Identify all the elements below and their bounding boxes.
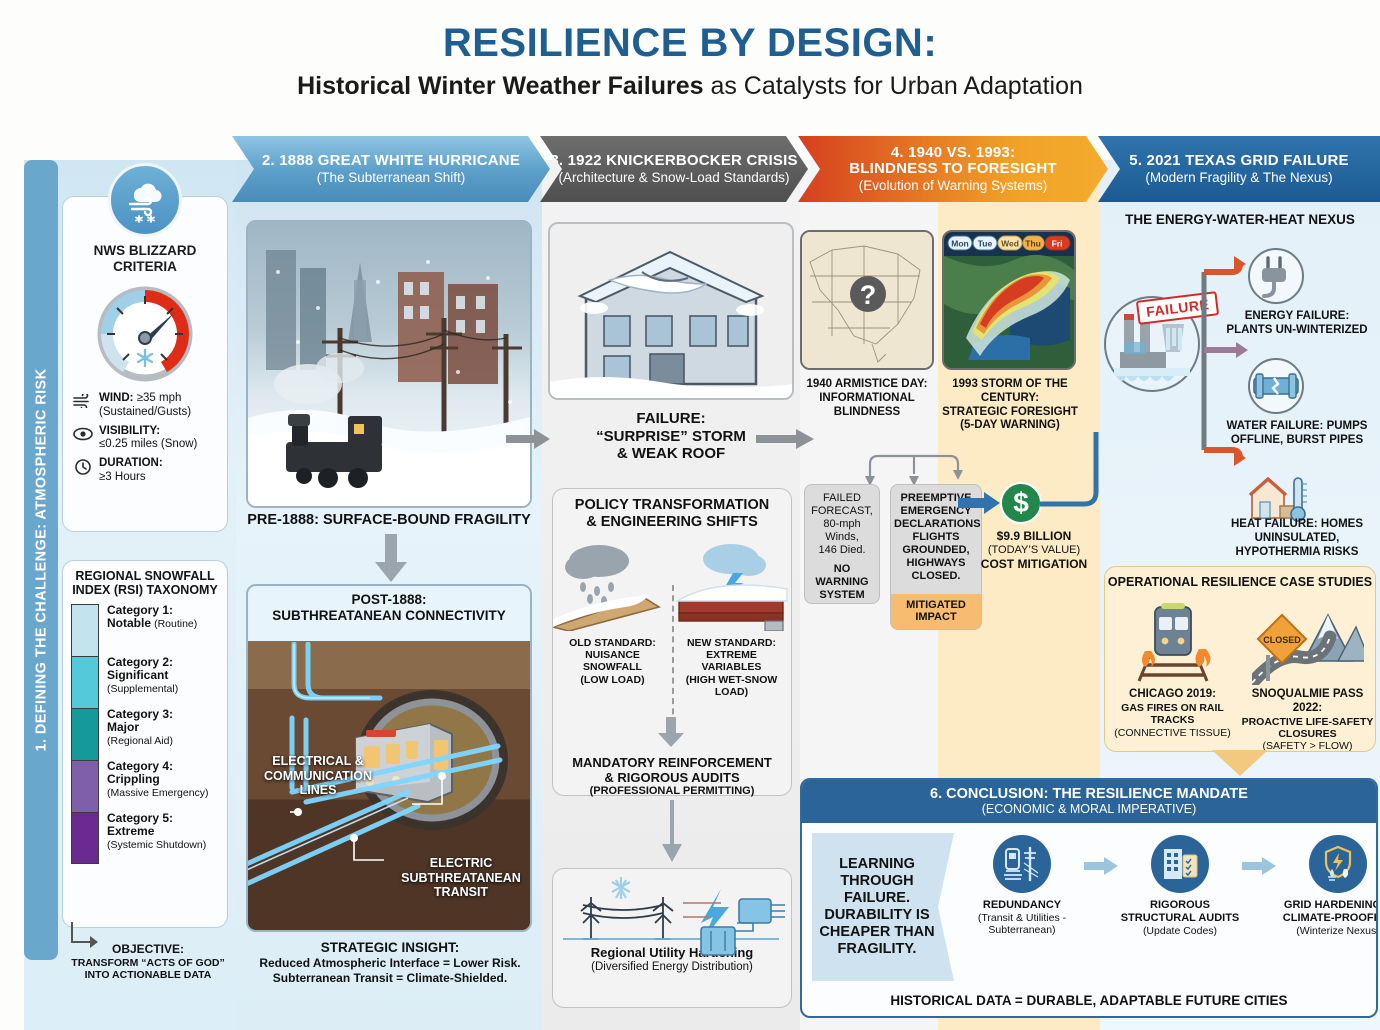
1888-street-snow-train-illustration [246, 220, 532, 508]
failed-forecast-text: FAILED FORECAST, 80-mph Winds, 146 Died.… [805, 485, 879, 602]
old-vs-new-roof-diagram [553, 539, 789, 631]
pillar-audits: RIGOROUS STRUCTURAL AUDITS (Update Codes… [1118, 835, 1242, 937]
criteria-row-duration: DURATION:≥3 Hours [73, 457, 219, 485]
col3-policy-head: POLICY TRANSFORMATION & ENGINEERING SHIF… [553, 489, 791, 531]
conclusion-head-subtitle: (ECONOMIC & MORAL IMPERATIVE) [802, 802, 1376, 816]
pillar-arrow-2-icon [1242, 857, 1276, 875]
failed-forecast-bold: NO WARNING SYSTEM [808, 563, 876, 602]
rsi-cat4-paren: (Massive Emergency) [107, 787, 209, 799]
criteria-visibility-detail: ≤0.25 miles (Snow) [99, 438, 197, 450]
chevron-3-title-line1: 4. 1940 VS. 1993: [891, 145, 1015, 162]
rsi-cat3-label: Major [107, 720, 139, 734]
rsi-label-column: Category 1:Notable (Routine) Category 2:… [99, 604, 219, 864]
banner-chevron-2021-texas[interactable]: 5. 2021 TEXAS GRID FAILURE (Modern Fragi… [1098, 136, 1380, 202]
chevron-3-title-line2: BLINDNESS TO FORESIGHT [849, 161, 1056, 178]
svg-text:Mon: Mon [951, 239, 968, 249]
clock-icon [73, 457, 93, 480]
svg-text:?: ? [860, 280, 877, 310]
rsi-label-cat1: Category 1:Notable (Routine) [107, 604, 219, 656]
case-studies-row: CHICAGO 2019: GAS FIRES ON RAIL TRACKS (… [1105, 599, 1375, 753]
rsi-cat2-label: Significant [107, 668, 168, 682]
conclusion-header: 6. CONCLUSION: THE RESILIENCE MANDATE (E… [802, 780, 1376, 823]
cost-inflow-arrow-icon [958, 492, 1002, 514]
col2-down-arrow-icon [374, 534, 408, 582]
rsi-panel-title: REGIONAL SNOWFALL INDEX (RSI) TAXONOMY [69, 569, 221, 598]
pillar-audits-sub: (Update Codes) [1118, 925, 1242, 937]
rsi-label-cat4: Category 4:Crippling(Massive Emergency) [107, 760, 219, 812]
case-snoqualmie-paren: (SAFETY > FLOW) [1263, 740, 1353, 752]
banner-chevron-1888[interactable]: 2. 1888 GREAT WHITE HURRICANE (The Subte… [232, 136, 550, 202]
pillar-redundancy-text: REDUNDANCY (Transit & Utilities - Subter… [960, 899, 1084, 937]
risk-gauge-icon [93, 282, 197, 386]
blizzard-cloud-wind-snow-icon [108, 163, 182, 237]
chevron-2-subtitle: (Architecture & Snow-Load Standards) [558, 170, 789, 185]
post-1888-subterranean-illustration: POST-1888: SUBTHREATANEAN CONNECTIVITY [246, 584, 532, 932]
rsi-cat1-name: Category 1: [107, 603, 173, 617]
failed-forecast-detail: FAILED FORECAST, 80-mph Winds, 146 Died. [811, 492, 873, 556]
chevron-1-subtitle: (The Subterranean Shift) [317, 170, 466, 185]
objective-body: TRANSFORM “ACTS OF GOD” INTO ACTIONABLE … [71, 957, 224, 982]
col2-to-col3-arrow-icon [506, 428, 552, 450]
criteria-duration-detail: ≥3 Hours [99, 471, 146, 483]
conclusion-body: LEARNING THROUGH FAILURE. DURABILITY IS … [802, 823, 1376, 981]
pillar-grid-sub: (Winterize Nexus) [1276, 925, 1378, 937]
col4-branch-arrows-icon [856, 440, 972, 488]
criteria-visibility-text: VISIBILITY:≤0.25 miles (Snow) [99, 425, 197, 453]
pillar-redundancy-head: REDUNDANCY [983, 899, 1061, 911]
1993-satellite-storm-forecast-map: Mon Tue Wed Thu Fri [942, 230, 1076, 370]
rsi-label-cat5: Category 5:Extreme(Systemic Shutdown) [107, 812, 219, 864]
eye-icon [73, 425, 93, 446]
case-chicago-head: CHICAGO 2019: [1129, 688, 1216, 700]
subtitle-light: as Catalysts for Urban Adaptation [704, 72, 1083, 100]
policy-down-arrow-icon [657, 717, 685, 747]
conclusion-footer: HISTORICAL DATA = DURABLE, ADAPTABLE FUT… [802, 993, 1376, 1008]
dollar-circle-icon: $ [1000, 482, 1042, 524]
rsi-cat1-paren: (Routine) [154, 618, 197, 630]
chevron-2-title: 3. 1922 KNICKERBOCKER CRISIS [550, 153, 797, 170]
criteria-row-visibility: VISIBILITY:≤0.25 miles (Snow) [73, 425, 219, 453]
transit-utility-pole-icon [993, 835, 1051, 893]
svg-text:Wed: Wed [1001, 239, 1019, 249]
rsi-cat4-name: Category 4: [107, 759, 173, 773]
case-study-snoqualmie: CLOSED SNOQUALMIE PASS 2022: PROACTIVE L… [1240, 599, 1375, 753]
col4-caption-1993: 1993 STORM OF THE CENTURY: STRATEGIC FOR… [936, 378, 1084, 433]
case-chicago-body: GAS FIRES ON RAIL TRACKS [1121, 702, 1224, 726]
utility-grid-icon [553, 873, 789, 959]
failed-forecast-box: FAILED FORECAST, 80-mph Winds, 146 Died.… [804, 484, 880, 604]
col2-caption-pre1888: PRE-1888: SURFACE-BOUND FRAGILITY [246, 512, 532, 528]
rsi-cat5-name: Category 5: [107, 811, 173, 825]
case-studies-head: OPERATIONAL RESILIENCE CASE STUDIES [1105, 567, 1375, 589]
banner-chevron-1922[interactable]: 3. 1922 KNICKERBOCKER CRISIS (Architectu… [540, 136, 808, 202]
case-snoqualmie-head: SNOQUALMIE PASS 2022: [1252, 688, 1364, 714]
mandatory-reinforcement-text: MANDATORY REINFORCEMENT & RIGOROUS AUDIT… [553, 755, 791, 798]
pillar-audits-head: RIGOROUS STRUCTURAL AUDITS [1121, 899, 1240, 924]
nexus-water-failure-text: WATER FAILURE: PUMPS OFFLINE, BURST PIPE… [1222, 420, 1372, 448]
rsi-swatch-cat1 [71, 604, 99, 656]
rain-cloud-icon [565, 545, 629, 606]
train-fire-icon [1125, 599, 1221, 685]
section-banner: 2. 1888 GREAT WHITE HURRICANE (The Subte… [0, 136, 1380, 202]
criteria-duration-text: DURATION:≥3 Hours [99, 457, 163, 485]
regional-utility-hardening-panel: Regional Utility Hardening (Diversified … [552, 868, 792, 1008]
sidebar-vertical-label: 1. DEFINING THE CHALLENGE: ATMOSPHERIC R… [33, 369, 49, 752]
chevron-1-title: 2. 1888 GREAT WHITE HURRICANE [262, 153, 520, 170]
infographic-page: RESILIENCE BY DESIGN: Historical Winter … [0, 0, 1380, 1030]
rsi-cat3-paren: (Regional Aid) [107, 735, 173, 747]
building-checklist-icon [1151, 835, 1209, 893]
banner-chevron-1940-1993[interactable]: 4. 1940 VS. 1993: BLINDNESS TO FORESIGHT… [798, 136, 1108, 202]
power-plug-icon [1248, 248, 1304, 304]
1940-blank-north-america-map-question-mark: ? [800, 230, 934, 370]
rsi-swatch-column [71, 604, 99, 864]
case-snoqualmie-text: SNOQUALMIE PASS 2022: PROACTIVE LIFE-SAF… [1240, 688, 1375, 752]
col2-label-electric-transit: ELECTRIC SUBTHREATANEAN TRANSIT [398, 856, 524, 900]
objective-head: OBJECTIVE: [112, 942, 184, 956]
conclusion-head-title: 6. CONCLUSION: THE RESILIENCE MANDATE [802, 786, 1376, 802]
criteria-visibility-label: VISIBILITY: [99, 425, 160, 437]
criteria-duration-label: DURATION: [99, 457, 163, 469]
criteria-row-wind: WIND: ≥35 mph(Sustained/Gusts) [73, 392, 219, 420]
chevron-3-subtitle: (Evolution of Warning Systems) [859, 178, 1048, 193]
road-closed-sign-label: CLOSED [1263, 635, 1301, 645]
shield-bolt-water-flame-icon [1309, 835, 1367, 893]
wind-icon [73, 392, 93, 413]
learning-through-failure-callout: LEARNING THROUGH FAILURE. DURABILITY IS … [812, 833, 954, 981]
nws-criteria-list: WIND: ≥35 mph(Sustained/Gusts) VISIBILIT… [73, 392, 219, 485]
col2-insight-line1: Reduced Atmospheric Interface = Lower Ri… [259, 956, 520, 970]
cost-to-texas-connector-icon [1040, 432, 1120, 552]
col4-caption-1940: 1940 ARMISTICE DAY: INFORMATIONAL BLINDN… [792, 378, 942, 419]
rsi-cat2-name: Category 2: [107, 655, 173, 669]
case-snoqualmie-body: PROACTIVE LIFE-SAFETY CLOSURES [1242, 716, 1374, 740]
rsi-swatch-cat2 [71, 656, 99, 708]
pillar-redundancy-sub: (Transit & Utilities - Subterranean) [960, 912, 1084, 937]
col2-strategic-insight: STRATEGIC INSIGHT: Reduced Atmospheric I… [240, 940, 540, 986]
burst-pipe-icon [1248, 358, 1304, 414]
old-standard-text: OLD STANDARD: NUISANCE SNOWFALL (LOW LOA… [553, 637, 672, 698]
policy-to-utility-arrow-icon [658, 800, 686, 864]
road-closed-mountain-icon: CLOSED [1252, 599, 1364, 685]
col3-to-col4-arrow-icon [756, 428, 816, 450]
operational-resilience-case-studies-panel: OPERATIONAL RESILIENCE CASE STUDIES CHIC… [1104, 566, 1376, 752]
pillar-redundancy: REDUNDANCY (Transit & Utilities - Subter… [960, 835, 1084, 937]
mandatory-sub: (PROFESSIONAL PERMITTING) [553, 785, 791, 798]
rsi-cat1-label: Notable [107, 616, 151, 630]
collapsed-snow-roof-illustration [548, 222, 794, 400]
svg-text:Tue: Tue [978, 239, 993, 249]
rsi-label-cat3: Category 3:Major(Regional Aid) [107, 708, 219, 760]
rsi-taxonomy-panel: REGIONAL SNOWFALL INDEX (RSI) TAXONOMY C… [62, 560, 228, 928]
rsi-cat5-label: Extreme [107, 824, 154, 838]
new-standard-text: NEW STANDARD: EXTREME VARIABLES (HIGH WE… [672, 637, 791, 698]
mitigated-impact-badge: MITIGATED IMPACT [891, 594, 981, 629]
policy-transformation-panel: POLICY TRANSFORMATION & ENGINEERING SHIF… [552, 488, 792, 796]
nws-panel-title: NWS BLIZZARD CRITERIA [63, 243, 227, 274]
rsi-cat5-paren: (Systemic Shutdown) [107, 839, 206, 851]
case-chicago-paren: (CONNECTIVE TISSUE) [1114, 727, 1230, 739]
sidebar-vertical-tab: 1. DEFINING THE CHALLENGE: ATMOSPHERIC R… [24, 160, 58, 960]
subtitle-bold: Historical Winter Weather Failures [297, 72, 703, 100]
svg-text:Fri: Fri [1052, 239, 1063, 249]
conclusion-panel: 6. CONCLUSION: THE RESILIENCE MANDATE (E… [800, 778, 1378, 1018]
rsi-swatch-cat5 [71, 812, 99, 864]
pillar-grid-hardening: GRID HARDENING & CLIMATE-PROOFING (Winte… [1276, 835, 1378, 937]
pillar-audits-text: RIGOROUS STRUCTURAL AUDITS (Update Codes… [1118, 899, 1242, 937]
nexus-energy-failure-text: ENERGY FAILURE: PLANTS UN-WINTERIZED [1222, 310, 1372, 338]
svg-text:Thu: Thu [1025, 239, 1041, 249]
case-to-conclusion-arrow-icon [1212, 750, 1268, 780]
page-title: RESILIENCE BY DESIGN: [0, 22, 1380, 64]
objective-block: OBJECTIVE: TRANSFORM “ACTS OF GOD” INTO … [58, 936, 238, 982]
criteria-wind-detail: (Sustained/Gusts) [99, 406, 191, 418]
rsi-swatch-cat4 [71, 760, 99, 812]
case-chicago-text: CHICAGO 2019: GAS FIRES ON RAIL TRACKS (… [1105, 688, 1240, 739]
nws-blizzard-criteria-panel: NWS BLIZZARD CRITERIA [62, 196, 228, 532]
chevron-4-subtitle: (Modern Fragility & The Nexus) [1145, 170, 1332, 185]
criteria-wind-text: WIND: ≥35 mph(Sustained/Gusts) [99, 392, 191, 420]
cost-label: COST MITIGATION [972, 557, 1096, 571]
rsi-label-cat2: Category 2:Significant(Supplemental) [107, 656, 219, 708]
case-study-chicago: CHICAGO 2019: GAS FIRES ON RAIL TRACKS (… [1105, 599, 1240, 753]
col2-insight-line2: Subterranean Transit = Climate-Shielded. [273, 971, 507, 985]
rsi-cat3-name: Category 3: [107, 707, 173, 721]
criteria-wind-value: ≥35 mph [134, 392, 182, 404]
pillar-arrow-1-icon [1084, 857, 1118, 875]
nexus-heat-failure-text: HEAT FAILURE: HOMES UNINSULATED, HYPOTHE… [1222, 518, 1372, 559]
col2-label-electrical-lines: ELECTRICAL & COMMUNICATION LINES [258, 754, 378, 798]
title-block: RESILIENCE BY DESIGN: Historical Winter … [0, 0, 1380, 101]
chevron-4-title: 5. 2021 TEXAS GRID FAILURE [1129, 153, 1348, 170]
col2-insight-head: STRATEGIC INSIGHT: [321, 940, 460, 955]
rsi-category-list: Category 1:Notable (Routine) Category 2:… [63, 604, 227, 864]
pillar-grid-head: GRID HARDENING & CLIMATE-PROOFING [1283, 899, 1378, 924]
utility-sub: (Diversified Energy Distribution) [553, 961, 791, 975]
conclusion-pillars: REDUNDANCY (Transit & Utilities - Subter… [960, 833, 1378, 981]
col2-post1888-head: POST-1888: SUBTHREATANEAN CONNECTIVITY [248, 586, 530, 624]
objective-elbow-arrow-icon [66, 922, 106, 954]
rsi-cat2-paren: (Supplemental) [107, 683, 178, 695]
col5-title: THE ENERGY-WATER-HEAT NEXUS [1100, 212, 1380, 227]
rsi-swatch-cat3 [71, 708, 99, 760]
criteria-wind-label: WIND: [99, 392, 134, 404]
page-subtitle: Historical Winter Weather Failures as Ca… [0, 72, 1380, 101]
pillar-grid-text: GRID HARDENING & CLIMATE-PROOFING (Winte… [1276, 899, 1378, 937]
rsi-cat4-label: Crippling [107, 772, 160, 786]
mandatory-main: MANDATORY REINFORCEMENT & RIGOROUS AUDIT… [572, 755, 772, 785]
